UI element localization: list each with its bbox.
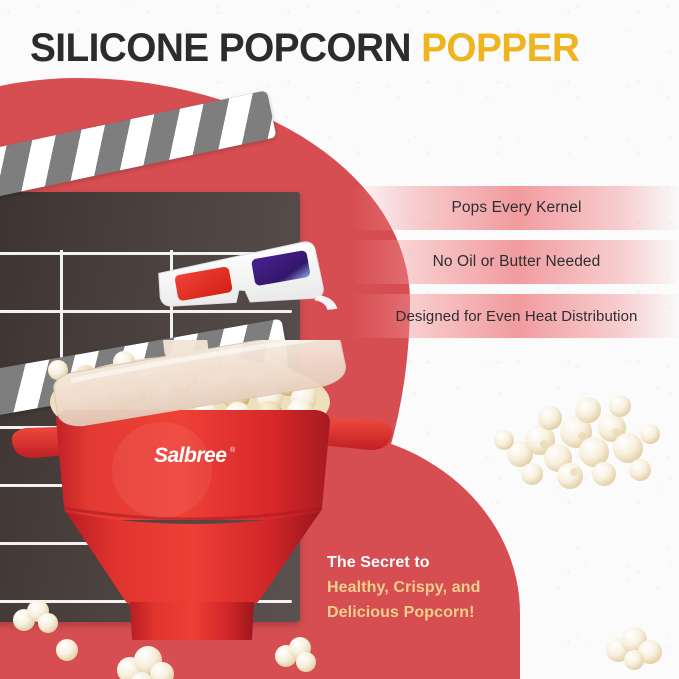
feature-list: Pops Every Kernel No Oil or Butter Neede… (354, 186, 679, 348)
bowl-lower-taper (66, 512, 320, 614)
title-primary: SILICONE POPCORN (30, 26, 411, 70)
bowl-base (130, 602, 254, 640)
feature-label: Pops Every Kernel (451, 199, 581, 217)
popcorn-scatter-right (492, 382, 662, 497)
popcorn-scatter-bottom-left-b (52, 636, 82, 667)
feature-bar-even-heat-distribution: Designed for Even Heat Distribution (354, 294, 679, 338)
feature-bar-no-oil-or-butter: No Oil or Butter Needed (354, 240, 679, 284)
tagline-block: The Secret to Healthy, Crispy, and Delic… (327, 550, 480, 625)
svg-text:®: ® (230, 446, 236, 454)
page-title: SILICONE POPCORN POPPER (30, 28, 579, 68)
popcorn-scatter-bottom-right (600, 620, 670, 675)
tagline-line-2: Healthy, Crispy, and (327, 575, 480, 600)
popcorn-scatter-bottom-middle (272, 634, 320, 679)
feature-bar-pops-every-kernel: Pops Every Kernel (354, 186, 679, 230)
popcorn-scatter-bottom-left-c (112, 644, 182, 679)
tagline-line-1: The Secret to (327, 550, 480, 575)
title-accent: POPPER (421, 26, 579, 70)
feature-label: Designed for Even Heat Distribution (396, 308, 638, 325)
feature-label: No Oil or Butter Needed (433, 253, 601, 271)
tagline-line-3: Delicious Popcorn! (327, 600, 480, 625)
salbree-logo: Salbree ® (154, 444, 236, 467)
product-marketing-image: Salbree ® Pops Every Kernel No Oil or Bu… (0, 0, 679, 679)
svg-text:Salbree: Salbree (154, 444, 227, 467)
